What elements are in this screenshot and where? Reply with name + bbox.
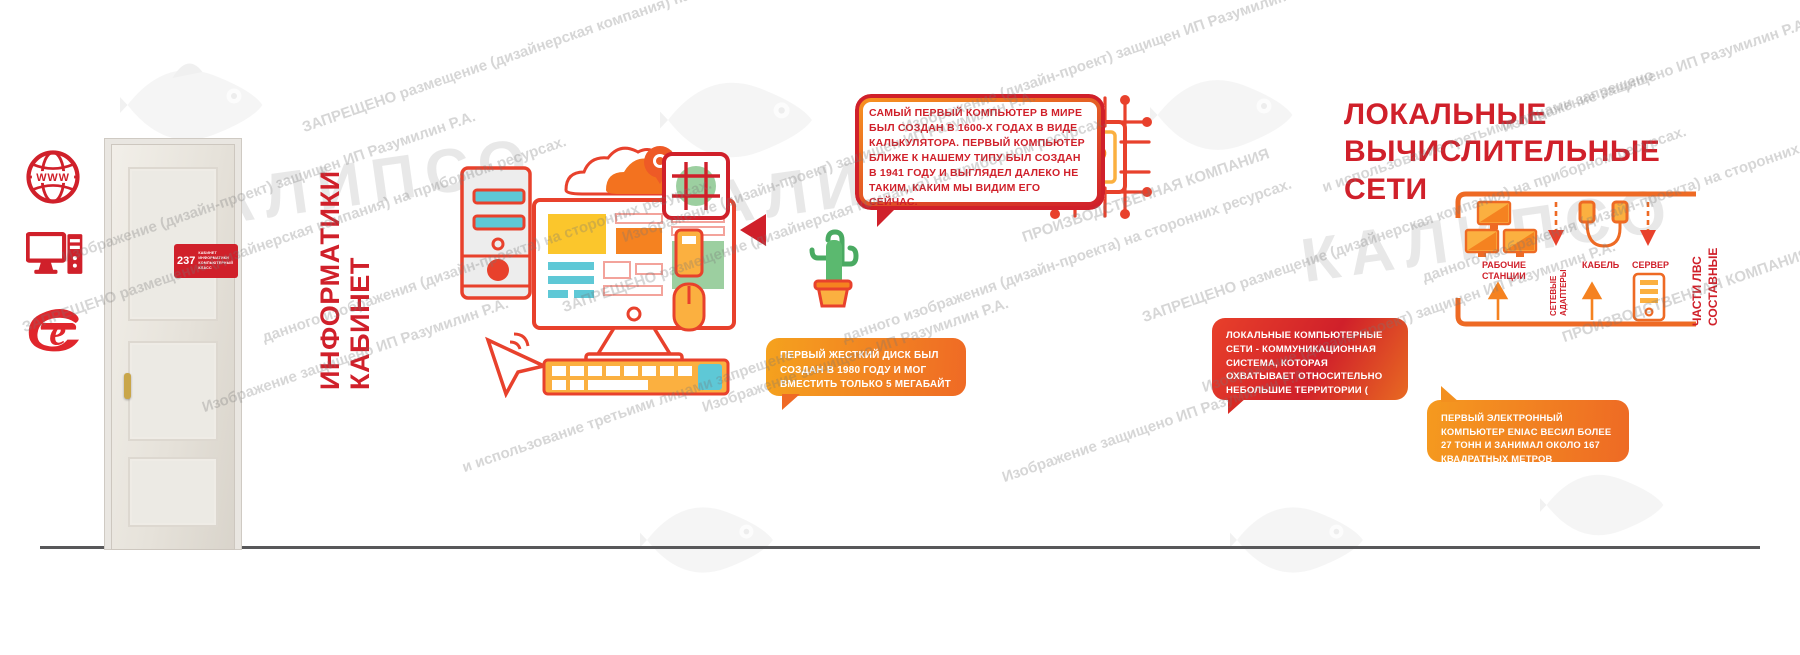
room-number: 237	[177, 255, 195, 267]
sign-line-4: КЛАСС	[198, 266, 233, 271]
lan-heading-line-2: ВЫЧИСЛИТЕЛЬНЫЕ	[1340, 133, 1664, 170]
door: 237 КАБИНЕТ ИНФОРМАТИКИ КОМПЬЮТЕРНЫЙ КЛА…	[104, 138, 242, 550]
vertical-title-line-2: ИНФОРМАТИКИ	[315, 170, 346, 390]
www-globe-icon: WWW	[26, 150, 80, 204]
label-cable: КАБЕЛЬ	[1582, 260, 1620, 270]
lan-components-diagram: РАБОЧИЕ СТАНЦИИ СЕТЕВЫЕ АДАПТЕРЫ КАБЕЛЬ …	[1452, 188, 1702, 328]
svg-text:WWW: WWW	[36, 172, 70, 184]
fish-watermark	[1150, 40, 1300, 190]
label-workstations-1: РАБОЧИЕ	[1482, 260, 1526, 270]
lan-heading-line-1: ЛОКАЛЬНЫЕ	[1340, 96, 1551, 133]
signboard-canvas: КАЛИПСО КАЛИПСО КАЛИПСО	[0, 0, 1800, 655]
desktop-computer-icon	[26, 230, 84, 278]
floor-line	[40, 546, 1760, 549]
bubble-eniac-fact: ПЕРВЫЙ ЭЛЕКТРОННЫЙ КОМПЬЮТЕР ENIAC ВЕСИЛ…	[1427, 400, 1629, 462]
bubble-tail	[1228, 398, 1246, 414]
lan-side-label: СОСТАВНЫЕ ЧАСТИ ЛВС	[1690, 196, 1734, 326]
room-sign-text: КАБИНЕТ ИНФОРМАТИКИ КОМПЬЮТЕРНЫЙ КЛАСС	[198, 251, 233, 272]
server-arrow	[1640, 202, 1656, 246]
lan-side-label-line-1: СОСТАВНЫЕ	[1706, 248, 1720, 326]
adapter-arrow	[1548, 202, 1564, 246]
bubble-text: САМЫЙ ПЕРВЫЙ КОМПЬЮТЕР В МИРЕ БЫЛ СОЗДАН…	[855, 94, 1105, 222]
cable-icon	[1580, 202, 1627, 246]
lan-side-label-line-2: ЧАСТИ ЛВС	[1690, 256, 1704, 326]
hash-window-icon	[660, 150, 738, 230]
bubble-tail	[1441, 386, 1459, 402]
bubble-lan-definition: ЛОКАЛЬНЫЕ КОМПЬЮТЕРНЫЕ СЕТИ - КОММУНИКАЦ…	[1212, 318, 1408, 400]
cactus-icon	[802, 228, 864, 310]
door-room-sign: 237 КАБИНЕТ ИНФОРМАТИКИ КОМПЬЮТЕРНЫЙ КЛА…	[174, 244, 238, 278]
bubble-tail	[877, 207, 897, 227]
bubble-tail	[782, 394, 800, 410]
label-adapters-2: АДАПТЕРЫ	[1559, 269, 1568, 316]
workstation-monitors	[1466, 202, 1536, 257]
lan-heading: ЛОКАЛЬНЫЕ ВЫЧИСЛИТЕЛЬНЫЕ СЕТИ	[1340, 96, 1660, 208]
bubble-first-computer-fact: САМЫЙ ПЕРВЫЙ КОМПЬЮТЕР В МИРЕ БЫЛ СОЗДАН…	[855, 94, 1105, 210]
fish-watermark	[1230, 470, 1370, 610]
up-arrow	[1584, 284, 1600, 320]
watermark-text: ЗАПРЕЩЕНО размещение (дизайнерская компа…	[300, 0, 848, 136]
door-panel	[128, 457, 218, 527]
label-server: СЕРВЕР	[1632, 260, 1669, 270]
bubble-hard-disk-fact: ПЕРВЫЙ ЖЕСТКИЙ ДИСК БЫЛ СОЗДАН В 1980 ГО…	[766, 338, 966, 396]
bubble-text: ПЕРВЫЙ ЭЛЕКТРОННЫЙ КОМПЬЮТЕР ENIAC ВЕСИЛ…	[1441, 411, 1615, 466]
internet-explorer-e-icon: e	[26, 304, 84, 352]
door-panel	[128, 341, 218, 441]
bubble-text: ПЕРВЫЙ ЖЕСТКИЙ ДИСК БЫЛ СОЗДАН В 1980 ГО…	[780, 349, 952, 393]
play-arrow-icon	[736, 210, 770, 250]
label-adapters-1: СЕТЕВЫЕ	[1549, 275, 1558, 316]
cabinet-vertical-title: КАБИНЕТ ИНФОРМАТИКИ	[330, 140, 400, 390]
up-arrow	[1490, 284, 1506, 320]
ie-letter: e	[49, 312, 66, 352]
server-tower	[1634, 274, 1664, 320]
left-icon-column: WWW e	[26, 150, 106, 378]
cursor-arrow	[488, 340, 544, 394]
usb-and-mouse-icons	[660, 228, 718, 336]
vertical-title-line-1: КАБИНЕТ	[345, 257, 376, 390]
door-handle[interactable]	[124, 373, 131, 399]
label-workstations-2: СТАНЦИИ	[1482, 271, 1526, 281]
lan-heading-line-3: СЕТИ	[1340, 171, 1432, 208]
door-leaf	[111, 144, 235, 550]
bubble-text: ЛОКАЛЬНЫЕ КОМПЬЮТЕРНЫЕ СЕТИ - КОММУНИКАЦ…	[1226, 329, 1394, 412]
fish-watermark	[640, 470, 780, 610]
